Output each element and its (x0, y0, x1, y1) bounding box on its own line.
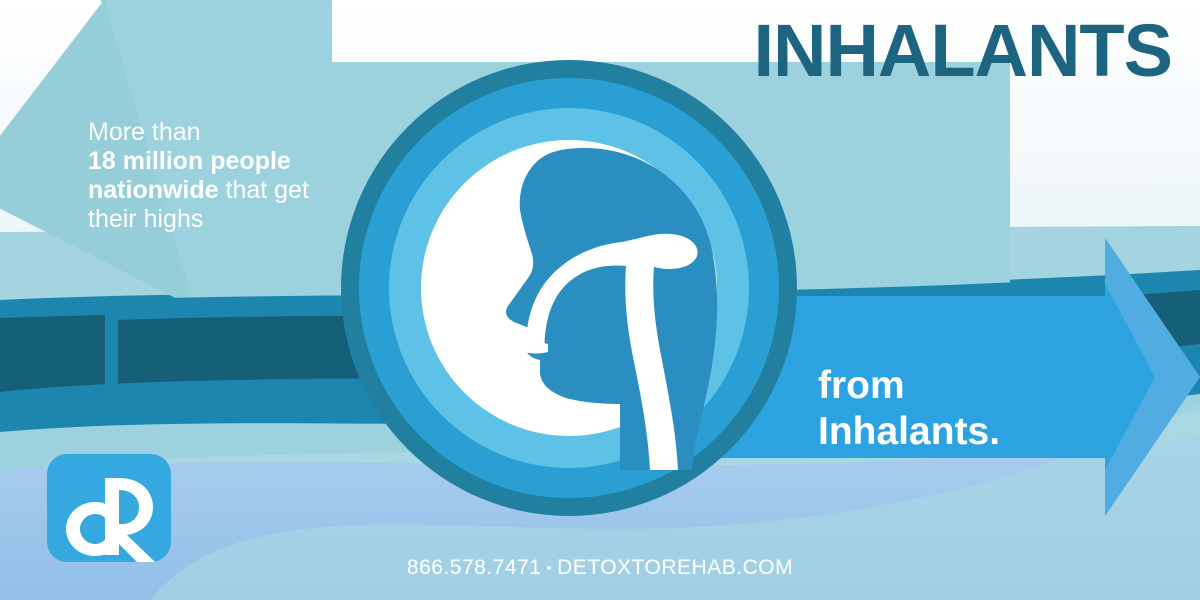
right-copy-line-2: Inhalants. (818, 410, 1000, 453)
footer-contact: 866.578.7471•DETOXTOREHAB.COM (0, 556, 1200, 580)
stat-line-3-rest: that get (219, 176, 309, 204)
stat-line-2: 18 million people (88, 147, 291, 175)
phone-number[interactable]: 866.578.7471 (407, 556, 541, 579)
stat-line-4: their highs (88, 205, 203, 233)
head-respiratory-icon (341, 60, 797, 516)
brand-logo[interactable] (45, 452, 173, 564)
website-url[interactable]: DETOXTOREHAB.COM (557, 556, 793, 579)
stat-line-3-bold: nationwide (88, 176, 219, 204)
page-title: INHALANTS (753, 14, 1172, 88)
right-callout-text: from Inhalants. (818, 363, 1000, 455)
mouth-notch (524, 343, 548, 354)
right-copy-line-1: from (818, 364, 905, 407)
stat-line-1: More than (88, 118, 201, 146)
bullet-separator-icon: • (541, 560, 557, 577)
infographic-poster: INHALANTS More than 18 million people na… (0, 0, 1200, 600)
left-statistic-text: More than 18 million people nationwide t… (88, 118, 358, 234)
